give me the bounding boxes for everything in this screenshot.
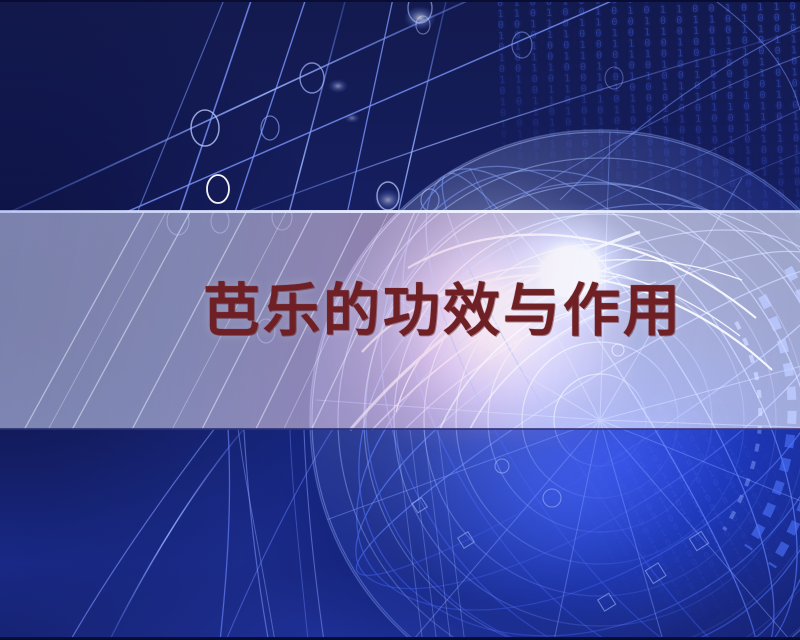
title-banner: 0 1 0 0 1 0 1 1 0 0 1 0 1 1 0 1 0 0 1 1 … bbox=[0, 0, 800, 640]
band-top-highlight bbox=[0, 210, 800, 213]
top-edge-trim bbox=[0, 0, 800, 2]
band-bottom-edge bbox=[0, 428, 800, 430]
page-title: 芭乐的功效与作用 bbox=[203, 283, 683, 340]
